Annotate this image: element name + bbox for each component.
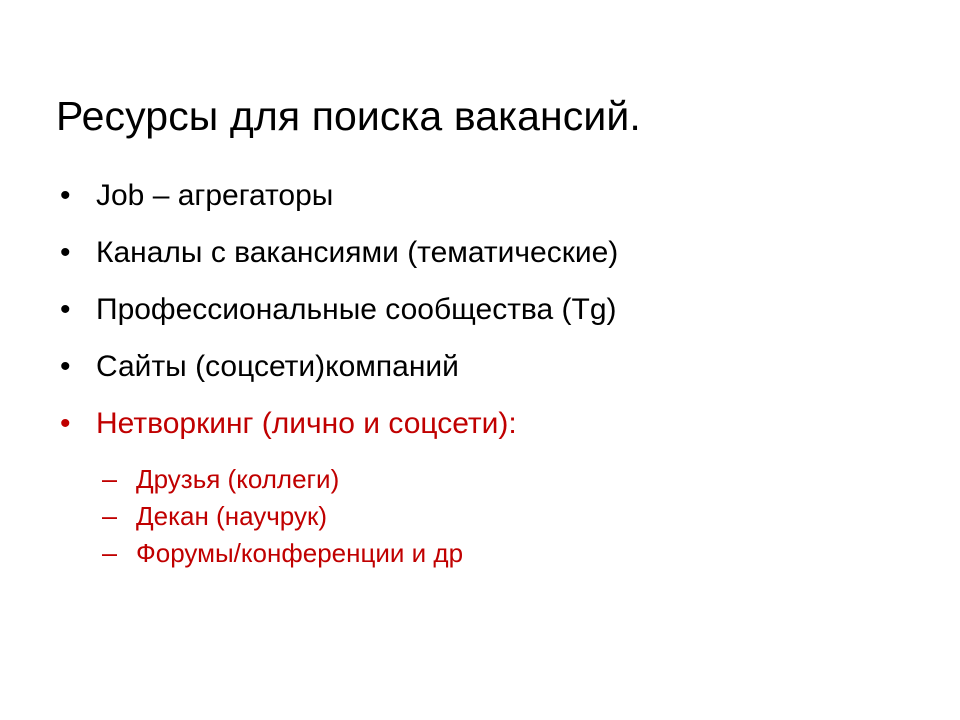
list-item: •Каналы с вакансиями (тематические)	[56, 233, 926, 282]
list-item: •Job – агрегаторы	[56, 176, 926, 225]
bullet-dot-icon: •	[56, 233, 96, 273]
list-item-label: Друзья (коллеги)	[136, 461, 339, 497]
bullet-dash-icon: –	[102, 498, 136, 534]
list-item: •Нетворкинг (лично и соцсети):	[56, 404, 926, 453]
list-item-label: Декан (научрук)	[136, 498, 327, 534]
bullet-dot-icon: •	[56, 347, 96, 387]
list-item: –Друзья (коллеги)	[56, 461, 926, 497]
slide-canvas: Ресурсы для поиска вакансий. •Job – агре…	[0, 0, 960, 720]
bullet-list: •Job – агрегаторы•Каналы с вакансиями (т…	[56, 176, 926, 572]
list-item-label: Форумы/конференции и др	[136, 535, 463, 571]
list-item: •Профессиональные сообщества (Tg)	[56, 290, 926, 339]
list-item-label: Профессиональные сообщества (Tg)	[96, 290, 617, 330]
list-item: –Форумы/конференции и др	[56, 535, 926, 571]
list-item: •Сайты (соцсети)компаний	[56, 347, 926, 396]
list-item-label: Нетворкинг (лично и соцсети):	[96, 404, 517, 444]
list-item-label: Сайты (соцсети)компаний	[96, 347, 459, 387]
list-item-label: Job – агрегаторы	[96, 176, 333, 216]
page-title: Ресурсы для поиска вакансий.	[56, 91, 916, 141]
list-item: –Декан (научрук)	[56, 498, 926, 534]
bullet-dot-icon: •	[56, 404, 96, 444]
bullet-dot-icon: •	[56, 290, 96, 330]
bullet-dash-icon: –	[102, 461, 136, 497]
list-item-label: Каналы с вакансиями (тематические)	[96, 233, 618, 273]
bullet-dot-icon: •	[56, 176, 96, 216]
bullet-dash-icon: –	[102, 535, 136, 571]
